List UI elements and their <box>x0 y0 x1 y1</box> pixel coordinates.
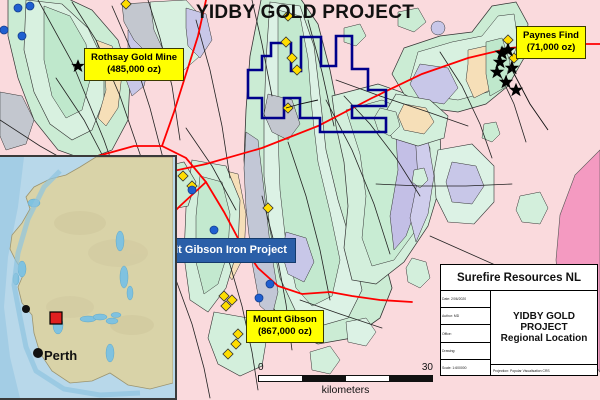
title-block-field-drawing: Drawing: <box>441 343 490 360</box>
scale-seg-4 <box>389 376 432 381</box>
inset-city-dot-north <box>22 305 30 313</box>
title-block-field-date: Date: 2/06/2020 <box>441 291 490 308</box>
scale-bar: 0 30 kilometers <box>258 362 433 396</box>
title-block-fields: Date: 2/06/2020 Author: MD Office: Drawi… <box>441 291 491 376</box>
callout-paynes-find[interactable]: Paynes Find (71,000 oz) <box>516 26 586 59</box>
scale-seg-2 <box>302 376 345 381</box>
deposit-circle <box>188 186 196 194</box>
title-block-company: Surefire Resources NL <box>441 265 597 291</box>
deposit-circle <box>0 26 8 34</box>
title-block-main-text: YIDBY GOLD PROJECT Regional Location <box>491 291 597 365</box>
callout-line2: (867,000 oz) <box>253 326 317 338</box>
callout-line2: Iron Project <box>226 244 287 256</box>
map-title: YIDBY GOLD PROJECT <box>185 2 425 24</box>
scale-min-label: 0 <box>258 362 264 373</box>
title-block-projection: Projection: Popular Visualisation CRS <box>491 365 597 376</box>
deposit-circle <box>266 280 274 288</box>
title-block-field-scale: Scale: 1:600000 <box>441 360 490 376</box>
inset-perth-label: Perth <box>44 348 77 363</box>
inset-city-dot-perth <box>33 348 43 358</box>
inset-map-canvas <box>0 157 173 398</box>
inset-location-map[interactable] <box>0 155 177 400</box>
title-block-field-office: Office: <box>441 325 490 342</box>
title-block-field-author: Author: MD <box>441 308 490 325</box>
deposit-circle <box>255 294 263 302</box>
title-block-subtitle: Regional Location <box>501 333 588 344</box>
callout-mount-gibson[interactable]: Mount Gibson (867,000 oz) <box>246 310 324 343</box>
callout-line1: Mount Gibson <box>253 314 317 325</box>
deposit-circle <box>18 32 26 40</box>
deposit-circle <box>26 2 34 10</box>
callout-rothsay-gold-mine[interactable]: Rothsay Gold Mine (485,000 oz) <box>84 48 184 81</box>
inset-project-marker[interactable] <box>50 312 62 324</box>
callout-line1: Mt Gibson <box>169 244 223 256</box>
scale-seg-1 <box>259 376 302 381</box>
title-block-project-title: YIDBY GOLD PROJECT <box>491 311 597 333</box>
deposit-circle <box>210 226 218 234</box>
scale-units-label: kilometers <box>258 384 433 396</box>
callout-line2: (485,000 oz) <box>91 64 177 76</box>
callout-line1: Paynes Find <box>523 30 579 41</box>
title-block: Surefire Resources NL Date: 2/06/2020 Au… <box>440 264 598 376</box>
deposit-circle <box>14 4 22 12</box>
map-page: YIDBY GOLD PROJECT Rothsay Gold Mine (48… <box>0 0 600 400</box>
callout-line2: (71,000 oz) <box>523 42 579 54</box>
mafic-pod-top <box>431 21 445 35</box>
scale-seg-3 <box>346 376 389 381</box>
callout-mt-gibson-iron-project[interactable]: Mt Gibson Iron Project <box>160 238 296 263</box>
callout-line1: Rothsay Gold Mine <box>91 52 177 63</box>
scale-bar-graphic <box>258 375 433 382</box>
scale-max-label: 30 <box>422 362 433 373</box>
